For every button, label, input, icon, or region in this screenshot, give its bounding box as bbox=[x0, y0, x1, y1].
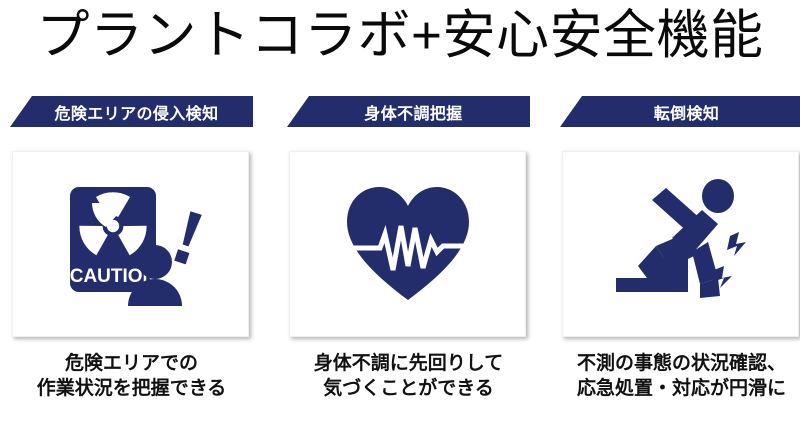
caption-line-2: 気づくことができる bbox=[287, 376, 530, 401]
caption-danger-area: 危険エリアでの 作業状況を把握できる bbox=[10, 351, 253, 401]
icon-card-health bbox=[289, 151, 526, 337]
caption-health: 身体不調に先回りして 気づくことができる bbox=[287, 351, 530, 401]
badge-health: 身体不調把握 bbox=[287, 96, 530, 127]
caption-line-1: 不測の事態の状況確認、 bbox=[560, 351, 800, 376]
caption-line-1: 身体不調に先回りして bbox=[287, 351, 530, 376]
caption-line-2: 作業状況を把握できる bbox=[10, 376, 253, 401]
feature-columns: 危険エリアの侵入検知 bbox=[0, 96, 800, 429]
badge-label: 転倒検知 bbox=[654, 100, 720, 124]
caption-fall-detection: 不測の事態の状況確認、 応急処置・対応が円滑に bbox=[560, 351, 800, 401]
person-falling-over-step-icon bbox=[606, 174, 756, 314]
icon-card-danger-area: CAUTION bbox=[12, 151, 249, 337]
radiation-caution-sign-with-person-icon: CAUTION bbox=[56, 169, 206, 319]
feature-column-danger-area: 危険エリアの侵入検知 bbox=[10, 96, 253, 429]
feature-column-health: 身体不調把握 身体不調に先回りして 気づくことができる bbox=[287, 96, 530, 429]
badge-label: 身体不調把握 bbox=[364, 100, 462, 124]
heart-with-heartbeat-line-icon bbox=[343, 182, 473, 307]
caption-line-1: 危険エリアでの bbox=[10, 351, 253, 376]
slide-root: プラントコラボ+安心安全機能 危険エリアの侵入検知 bbox=[0, 0, 800, 429]
page-title: プラントコラボ+安心安全機能 bbox=[0, 2, 800, 70]
caption-line-2: 応急処置・対応が円滑に bbox=[560, 376, 800, 401]
feature-column-fall-detection: 転倒検知 bbox=[560, 96, 800, 429]
badge-danger-area: 危険エリアの侵入検知 bbox=[10, 96, 253, 127]
icon-card-fall-detection bbox=[562, 151, 799, 337]
badge-fall-detection: 転倒検知 bbox=[560, 96, 800, 127]
badge-label: 危険エリアの侵入検知 bbox=[54, 100, 218, 124]
